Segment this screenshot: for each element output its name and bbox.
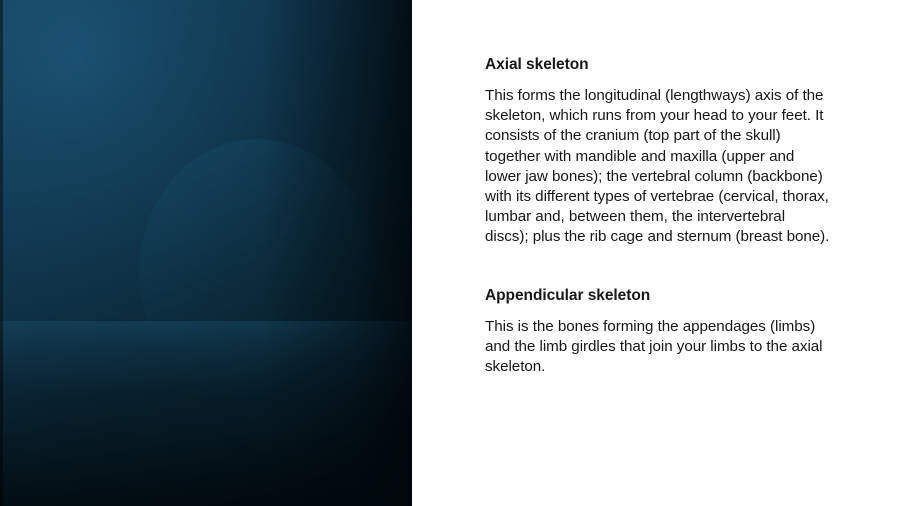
section-body-appendicular: This is the bones forming the appendages… (485, 317, 830, 378)
right-vignette (262, 0, 412, 506)
section-heading-axial: Axial skeleton (485, 55, 830, 75)
left-edge-shadow (0, 0, 3, 506)
content-column: Axial skeleton This forms the longitudin… (485, 55, 830, 377)
spacer (485, 306, 830, 317)
spacer (485, 248, 830, 286)
section-body-axial: This forms the longitudinal (lengthways)… (485, 86, 830, 248)
decorative-image-panel (0, 0, 412, 506)
slide-root: Axial skeleton This forms the longitudin… (0, 0, 900, 506)
text-content-panel: Axial skeleton This forms the longitudin… (412, 0, 900, 506)
spacer (485, 75, 830, 86)
section-heading-appendicular: Appendicular skeleton (485, 286, 830, 306)
